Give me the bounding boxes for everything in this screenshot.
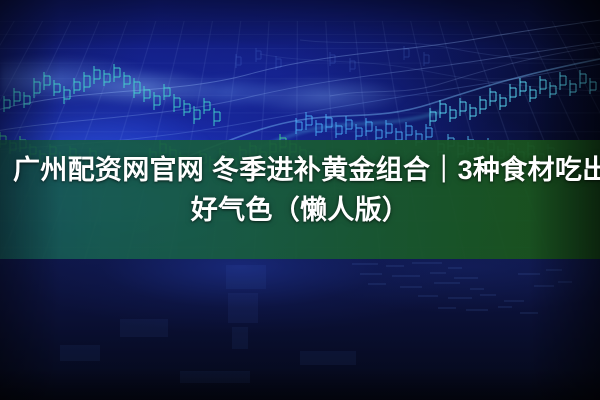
headline-line-2: 好气色（懒人版）: [0, 190, 600, 230]
bottom-band-texture: [0, 259, 600, 400]
headline-block: 广州配资网官网 冬季进补黄金组合｜3种食材吃出 好气色（懒人版）: [0, 146, 600, 254]
banner-image: 广州配资网官网 冬季进补黄金组合｜3种食材吃出 好气色（懒人版）: [0, 0, 600, 400]
headline-line-1: 广州配资网官网 冬季进补黄金组合｜3种食材吃出: [0, 150, 600, 190]
